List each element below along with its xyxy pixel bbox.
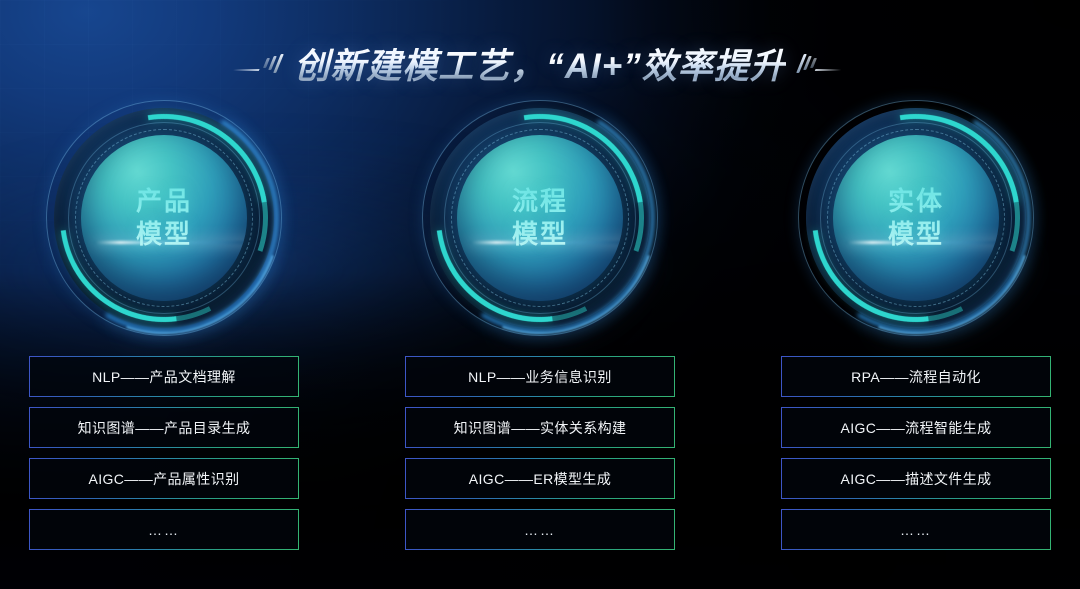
- list-item-label: AIGC——流程智能生成: [840, 418, 991, 438]
- orb-label: 流程 模型: [512, 185, 568, 252]
- list-item[interactable]: 知识图谱——实体关系构建: [405, 407, 675, 448]
- list-item-label: AIGC——产品属性识别: [88, 469, 239, 489]
- list-item[interactable]: RPA——流程自动化: [781, 356, 1051, 397]
- list-item-label: 知识图谱——产品目录生成: [78, 418, 251, 438]
- orb-label-line2: 模型: [512, 218, 568, 251]
- list-item[interactable]: NLP——产品文档理解: [29, 356, 299, 397]
- list-item-more[interactable]: ……: [781, 509, 1051, 550]
- orb-product-model[interactable]: 产品 模型: [46, 100, 282, 336]
- list-item-label: RPA——流程自动化: [851, 367, 981, 387]
- orb-label: 产品 模型: [136, 185, 192, 252]
- list-item-label: AIGC——描述文件生成: [840, 469, 991, 489]
- list-item[interactable]: 知识图谱——产品目录生成: [29, 407, 299, 448]
- list-item[interactable]: AIGC——流程智能生成: [781, 407, 1051, 448]
- title-decoration-right-icon: [800, 48, 844, 78]
- list-item-label: AIGC——ER模型生成: [469, 469, 611, 489]
- title-decoration-left-icon: [236, 48, 280, 78]
- list-item-label: ……: [900, 522, 932, 538]
- list-item-more[interactable]: ……: [29, 509, 299, 550]
- title-row: 创新建模工艺，“AI+”效率提升: [0, 36, 1080, 90]
- list-item[interactable]: AIGC——描述文件生成: [781, 458, 1051, 499]
- orb-inner-sphere: 流程 模型: [457, 135, 623, 301]
- orb-label-line1: 产品: [136, 185, 192, 218]
- orb-label: 实体 模型: [888, 185, 944, 252]
- item-list: NLP——业务信息识别 知识图谱——实体关系构建 AIGC——ER模型生成 ……: [405, 356, 675, 550]
- column-product-model: 产品 模型 NLP——产品文档理解 知识图谱——产品目录生成 AIGC——产品属…: [29, 100, 299, 550]
- list-item-label: ……: [524, 522, 556, 538]
- orb-process-model[interactable]: 流程 模型: [422, 100, 658, 336]
- orb-label-line2: 模型: [888, 218, 944, 251]
- page-title: 创新建模工艺，“AI+”效率提升: [294, 38, 785, 89]
- column-entity-model: 实体 模型 RPA——流程自动化 AIGC——流程智能生成 AIGC——描述文件…: [781, 100, 1051, 550]
- list-item-label: NLP——业务信息识别: [468, 367, 612, 387]
- list-item-label: ……: [148, 522, 180, 538]
- list-item-label: NLP——产品文档理解: [92, 367, 236, 387]
- columns-container: 产品 模型 NLP——产品文档理解 知识图谱——产品目录生成 AIGC——产品属…: [0, 100, 1080, 550]
- orb-label-line1: 流程: [512, 185, 568, 218]
- list-item-label: 知识图谱——实体关系构建: [454, 418, 627, 438]
- orb-inner-sphere: 实体 模型: [833, 135, 999, 301]
- list-item[interactable]: NLP——业务信息识别: [405, 356, 675, 397]
- orb-entity-model[interactable]: 实体 模型: [798, 100, 1034, 336]
- item-list: RPA——流程自动化 AIGC——流程智能生成 AIGC——描述文件生成 ……: [781, 356, 1051, 550]
- orb-label-line2: 模型: [136, 218, 192, 251]
- list-item-more[interactable]: ……: [405, 509, 675, 550]
- orb-label-line1: 实体: [888, 185, 944, 218]
- slide-root: 创新建模工艺，“AI+”效率提升 产品 模: [0, 0, 1080, 589]
- orb-inner-sphere: 产品 模型: [81, 135, 247, 301]
- list-item[interactable]: AIGC——产品属性识别: [29, 458, 299, 499]
- column-process-model: 流程 模型 NLP——业务信息识别 知识图谱——实体关系构建 AIGC——ER模…: [405, 100, 675, 550]
- list-item[interactable]: AIGC——ER模型生成: [405, 458, 675, 499]
- item-list: NLP——产品文档理解 知识图谱——产品目录生成 AIGC——产品属性识别 ……: [29, 356, 299, 550]
